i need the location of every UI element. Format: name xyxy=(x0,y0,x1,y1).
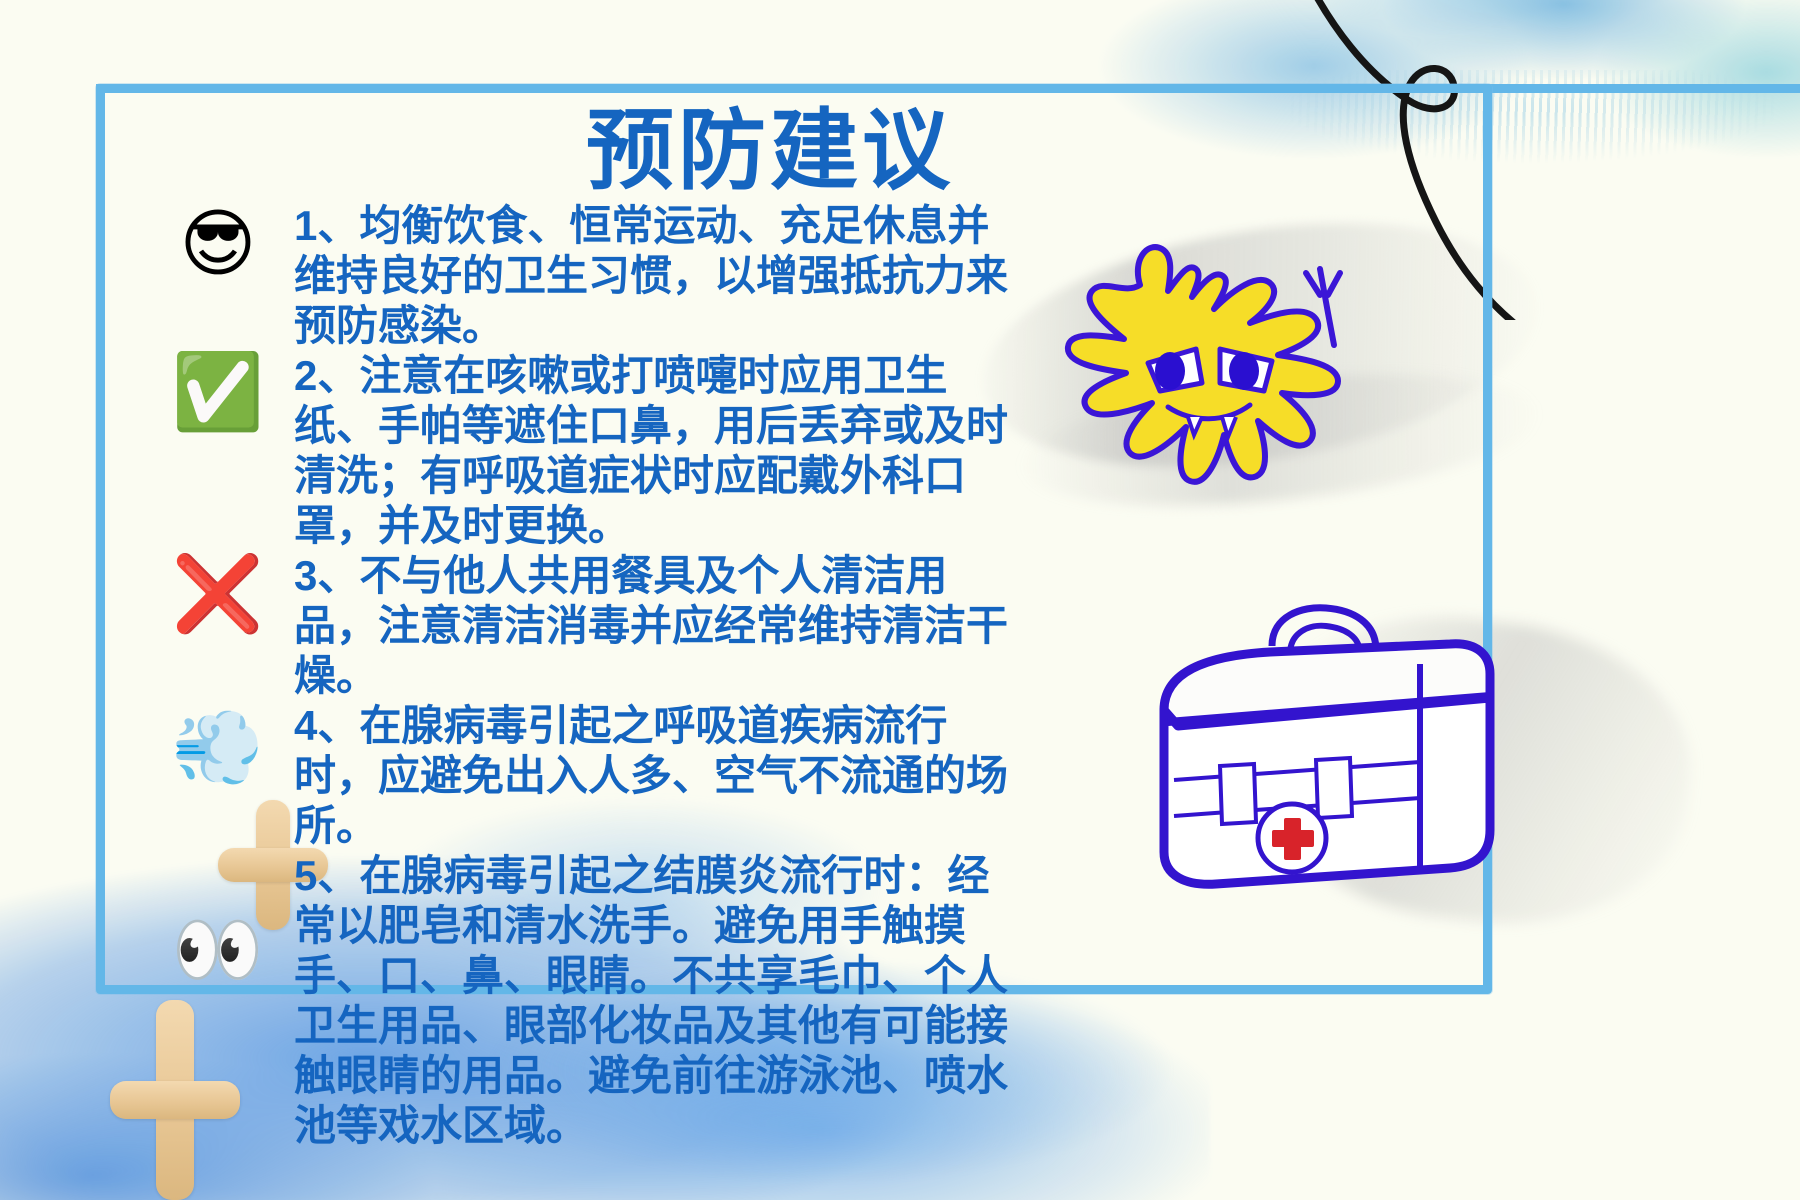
list-item: 😎 1、均衡饮食、恒常运动、充足休息并维持良好的卫生习惯，以增强抵抗力来预防感染… xyxy=(144,201,1450,351)
white-check-mark-emoji: ✅ xyxy=(170,355,266,429)
list-item: ✅ 2、注意在咳嗽或打喷嚏时应用卫生纸、手帕等遮住口鼻，用后丢弃或及时清洗；有呼… xyxy=(144,351,1450,551)
advice-text: 1、均衡饮食、恒常运动、充足休息并维持良好的卫生习惯，以增强抵抗力来预防感染。 xyxy=(294,201,1014,351)
advice-text: 3、不与他人共用餐具及个人清洁用品，注意清洁消毒并应经常维持清洁干燥。 xyxy=(294,551,1014,701)
eyes-emoji: 👀 xyxy=(170,913,266,987)
list-item: ❌ 3、不与他人共用餐具及个人清洁用品，注意清洁消毒并应经常维持清洁干燥。 xyxy=(144,551,1450,701)
list-item: 👀 5、在腺病毒引起之结膜炎流行时：经常以肥皂和清水洗手。避免用手触摸手、口、鼻… xyxy=(144,851,1450,1151)
page-title: 预防建议 xyxy=(90,107,1450,195)
advice-text: 5、在腺病毒引起之结膜炎流行时：经常以肥皂和清水洗手。避免用手触摸手、口、鼻、眼… xyxy=(294,851,1014,1151)
advice-list: 😎 1、均衡饮食、恒常运动、充足休息并维持良好的卫生习惯，以增强抵抗力来预防感染… xyxy=(130,201,1450,1151)
list-item: 💨 4、在腺病毒引起之呼吸道疾病流行时，应避免出入人多、空气不流通的场所。 xyxy=(144,701,1450,851)
advice-text: 2、注意在咳嗽或打喷嚏时应用卫生纸、手帕等遮住口鼻，用后丢弃或及时清洗；有呼吸道… xyxy=(294,351,1014,551)
advice-text: 4、在腺病毒引起之呼吸道疾病流行时，应避免出入人多、空气不流通的场所。 xyxy=(294,701,1014,851)
cross-mark-emoji: ❌ xyxy=(170,557,266,631)
poster-content: 预防建议 😎 1、均衡饮食、恒常运动、充足休息并维持良好的卫生习惯，以增强抵抗力… xyxy=(130,95,1450,975)
smiling-face-with-sunglasses-emoji: 😎 xyxy=(170,207,266,281)
dashing-away-emoji: 💨 xyxy=(170,711,266,785)
